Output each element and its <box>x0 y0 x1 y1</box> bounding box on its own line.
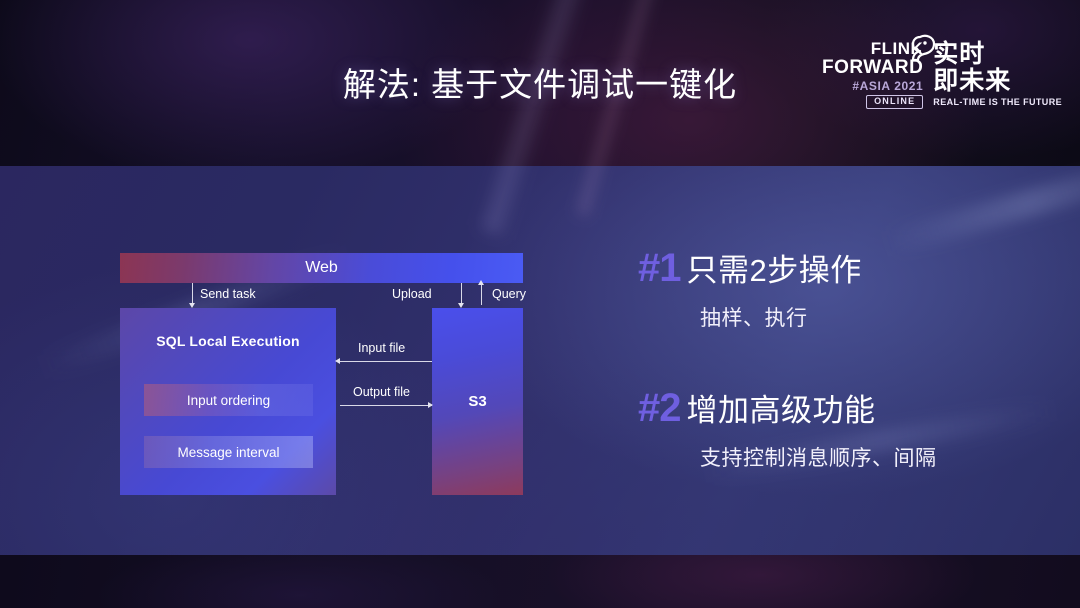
connector-send-task-label: Send task <box>200 287 256 301</box>
event-logo: FLINK FORWARD #ASIA 2021 ONLINE 实时 即未来 R… <box>822 40 1062 109</box>
slogan-tagline: REAL-TIME IS THE FUTURE <box>933 98 1062 107</box>
connector-query-label: Query <box>492 287 526 301</box>
key-point-1: #1 只需2步操作 抽样、执行 <box>638 248 1058 332</box>
diagram-subbox-input-ordering-label: Input ordering <box>187 393 270 408</box>
diagram-subbox-message-interval: Message interval <box>144 436 313 468</box>
slide-footer-band <box>0 555 1080 608</box>
key-point-1-heading-row: #1 只需2步操作 <box>638 248 1058 288</box>
connector-input-file-arrowhead <box>335 358 340 364</box>
connector-send-task-line <box>192 283 193 304</box>
diagram-box-sql-title: SQL Local Execution <box>120 333 336 349</box>
key-points-list: #1 只需2步操作 抽样、执行 #2 增加高级功能 支持控制消息顺序、间隔 <box>638 248 1058 472</box>
architecture-diagram: Web SQL Local Execution Input ordering M… <box>120 253 540 495</box>
logo-edition-label: #ASIA 2021 <box>822 80 923 92</box>
diagram-subbox-input-ordering: Input ordering <box>144 384 313 416</box>
key-point-1-number: #1 <box>638 248 681 288</box>
slogan-line-1: 实时 <box>933 42 1062 67</box>
key-point-2-heading: 增加高级功能 <box>687 395 876 426</box>
key-point-1-subtext: 抽样、执行 <box>700 302 1058 332</box>
connector-output-file-label: Output file <box>353 385 410 399</box>
key-point-2-number: #2 <box>638 388 681 428</box>
connector-query-line <box>481 284 482 305</box>
key-point-2-subtext: 支持控制消息顺序、间隔 <box>700 442 1058 472</box>
connector-upload-label: Upload <box>392 287 432 301</box>
flink-forward-logo: FLINK FORWARD #ASIA 2021 ONLINE <box>822 40 923 109</box>
connector-send-task-arrowhead <box>189 303 195 308</box>
diagram-box-s3-label: S3 <box>468 393 486 410</box>
connector-output-file-arrowhead <box>428 402 433 408</box>
squirrel-icon <box>903 34 937 64</box>
key-point-2-heading-row: #2 增加高级功能 <box>638 388 1058 428</box>
diagram-box-s3: S3 <box>432 308 523 495</box>
connector-upload-line <box>461 283 462 304</box>
chinese-slogan-logo: 实时 即未来 REAL-TIME IS THE FUTURE <box>933 42 1062 107</box>
connector-input-file-line <box>340 361 432 362</box>
presentation-slide: 解法: 基于文件调试一键化 FLINK FORWARD #ASIA 2021 O… <box>0 0 1080 608</box>
slogan-line-2: 即未来 <box>933 69 1062 94</box>
logo-online-badge: ONLINE <box>866 95 923 109</box>
connector-query-arrowhead <box>478 280 484 285</box>
diagram-box-web-label: Web <box>305 259 338 277</box>
diagram-subbox-message-interval-label: Message interval <box>177 445 279 460</box>
connector-upload-arrowhead <box>458 303 464 308</box>
diagram-box-web: Web <box>120 253 523 283</box>
key-point-1-heading: 只需2步操作 <box>687 255 862 286</box>
connector-output-file-line <box>340 405 432 406</box>
key-point-2: #2 增加高级功能 支持控制消息顺序、间隔 <box>638 388 1058 472</box>
connector-input-file-label: Input file <box>358 341 405 355</box>
diagram-box-sql-local-execution: SQL Local Execution Input ordering Messa… <box>120 308 336 495</box>
